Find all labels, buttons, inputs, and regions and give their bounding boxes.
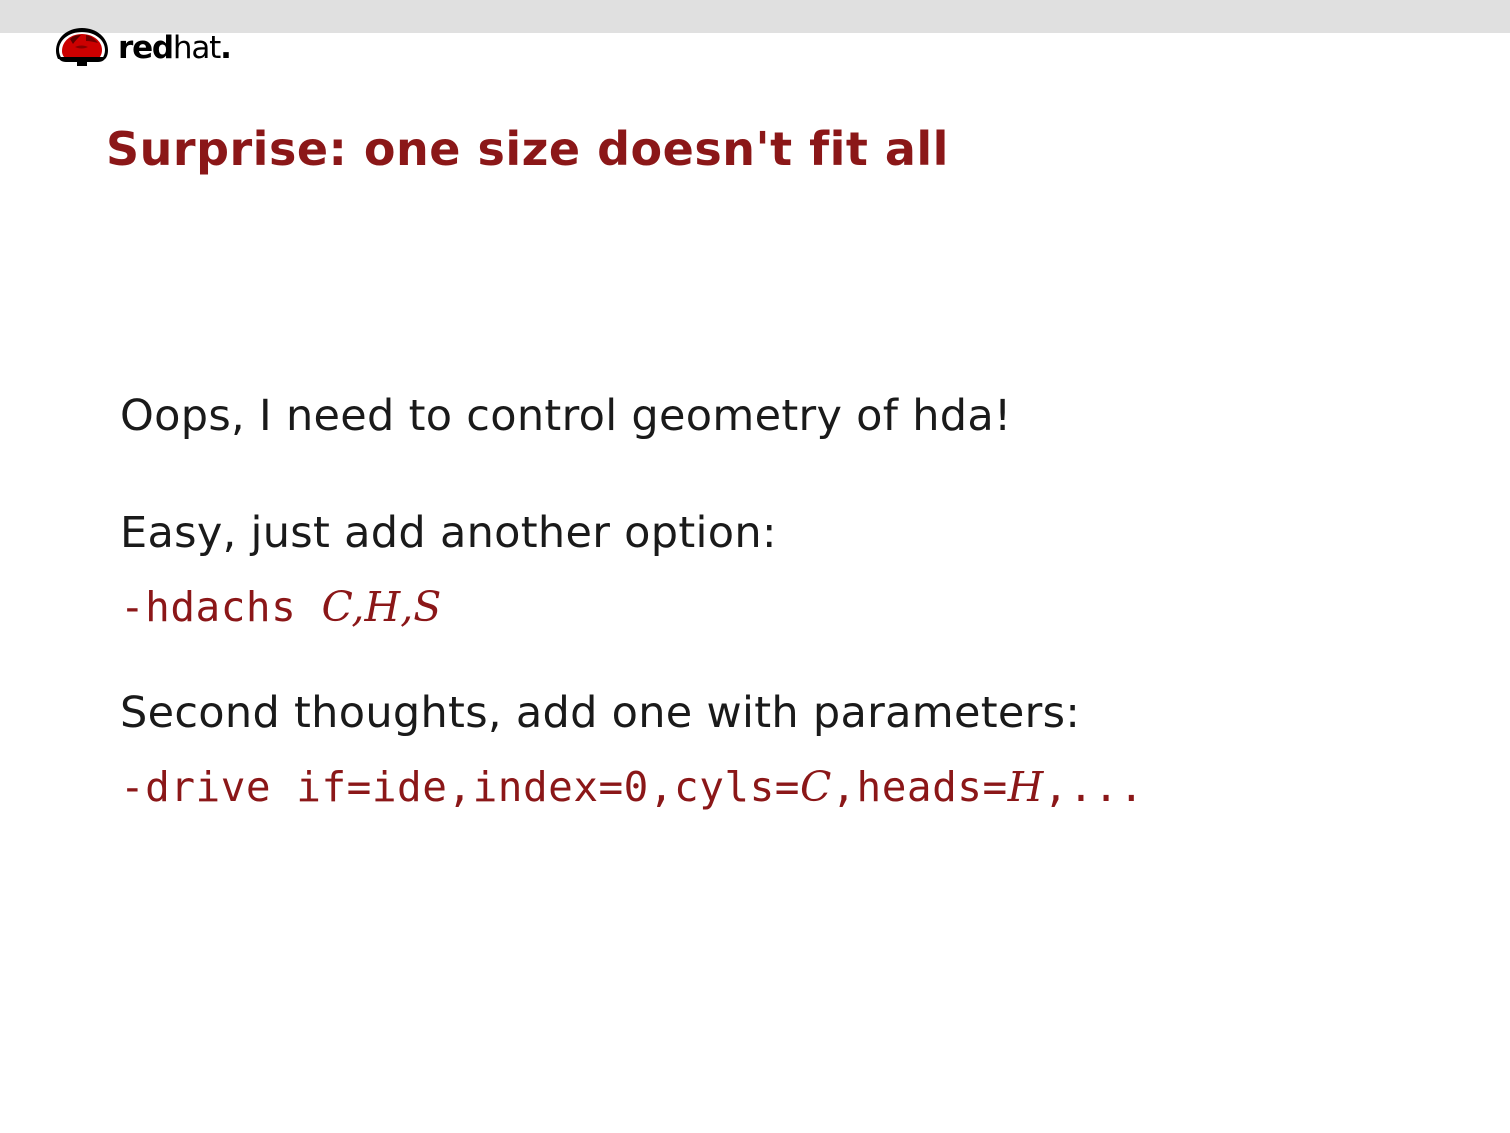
block-3-text: Second thoughts, add one with parameters… — [120, 685, 1440, 742]
redhat-shadowman-icon — [48, 21, 116, 69]
block-1-text: Oops, I need to control geometry of hda! — [120, 388, 1440, 445]
content-block-1: Oops, I need to control geometry of hda! — [120, 388, 1440, 445]
wordmark-red: red — [118, 30, 173, 66]
redhat-logo: redhat. — [48, 20, 231, 70]
code-math-variable: , — [400, 583, 413, 631]
code-math-variable: H — [1008, 763, 1044, 811]
code-literal: -drive if=ide,index=0,cyls= — [120, 763, 800, 811]
code-math-variable: C — [800, 763, 831, 811]
code-literal: -hdachs — [120, 583, 321, 631]
slide-body: Oops, I need to control geometry of hda!… — [120, 388, 1440, 815]
code-math-variable: C — [321, 583, 351, 631]
code-math-variable: S — [413, 583, 441, 631]
block-2-code: -hdachs C,H,S — [120, 580, 1440, 635]
redhat-wordmark: redhat. — [118, 33, 231, 64]
block-3-code: -drive if=ide,index=0,cyls=C,heads=H,... — [120, 760, 1440, 815]
code-math-variable: H — [364, 583, 400, 631]
code-literal: ,... — [1043, 763, 1144, 811]
block-2-text: Easy, just add another option: — [120, 505, 1440, 562]
code-literal: ,heads= — [831, 763, 1007, 811]
wordmark-dot: . — [220, 30, 231, 66]
wordmark-hat: hat — [173, 30, 220, 66]
content-block-2: Easy, just add another option: -hdachs C… — [120, 505, 1440, 635]
slide-title: Surprise: one size doesn't fit all — [106, 124, 949, 175]
content-block-3: Second thoughts, add one with parameters… — [120, 685, 1440, 815]
code-math-variable: , — [351, 583, 364, 631]
